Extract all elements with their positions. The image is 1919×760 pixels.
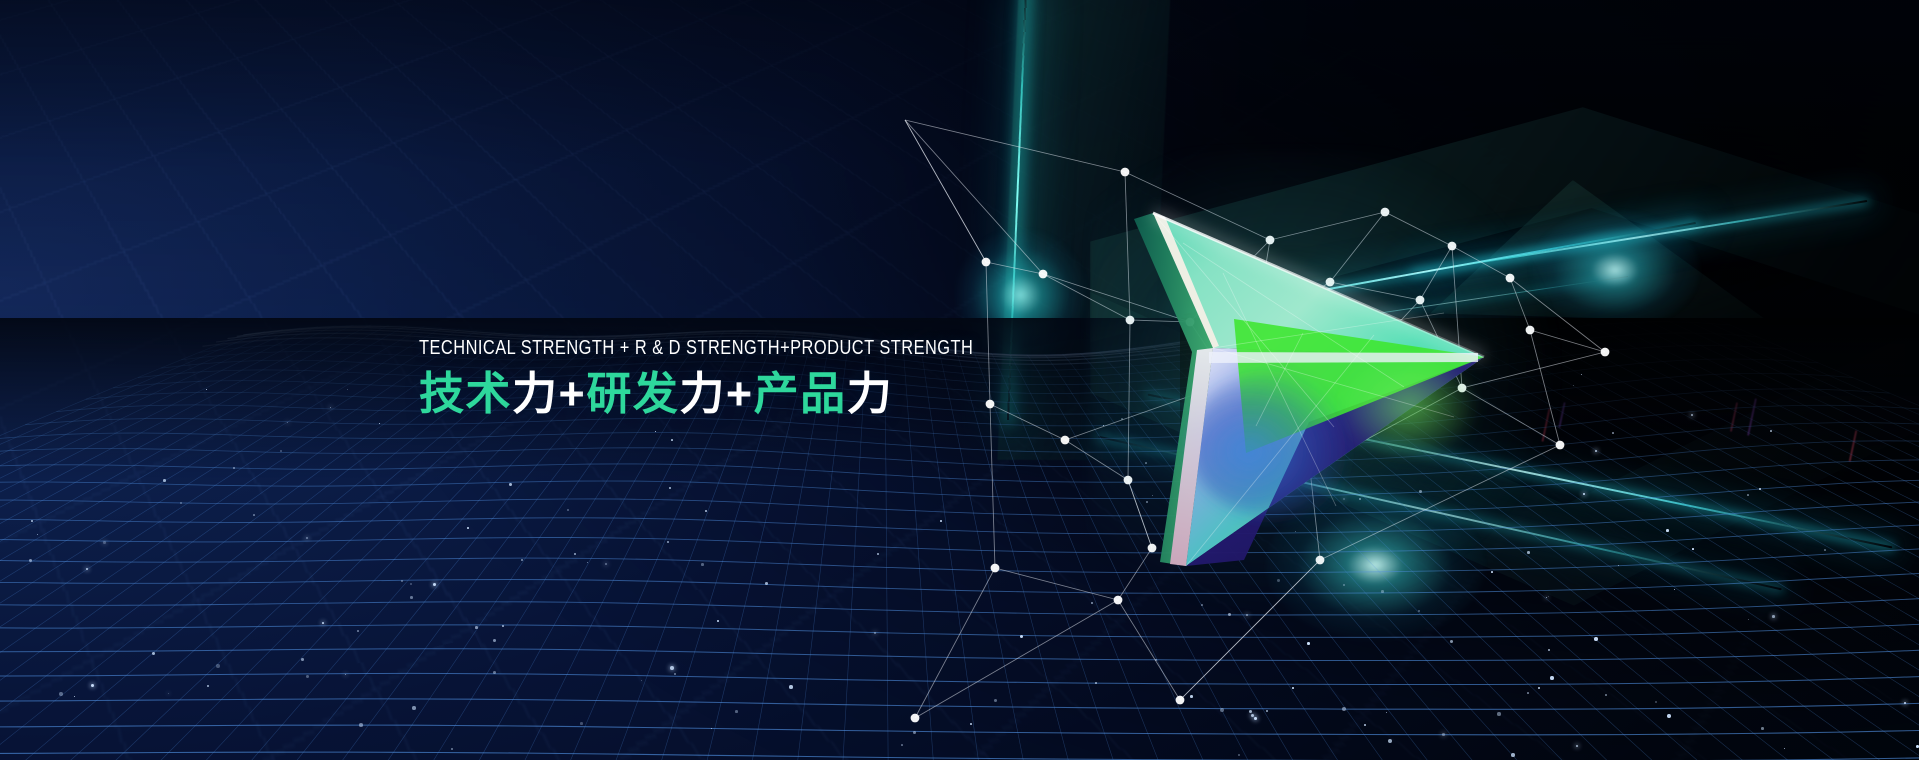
headline-text: 技术力+研发力+产品力 [419,370,1159,418]
arrow-mid-band [1209,352,1478,363]
headline-segment-0: 技术 [419,368,512,419]
hero-banner: TECHNICAL STRENGTH + R & D STRENGTH+PROD… [0,0,1919,760]
headline-segment-4: 力 [679,368,726,419]
headline-segment-1: 力 [512,368,559,419]
headline-segment-3: 研发 [586,368,679,419]
headline-segment-6: 产品 [754,368,847,419]
headline-segment-2: + [559,368,587,419]
headline-segment-5: + [726,368,754,419]
eyebrow-text: TECHNICAL STRENGTH + R & D STRENGTH+PROD… [419,338,1011,359]
arrow-inner-blue-bloom [1189,370,1361,518]
headline-segment-7: 力 [847,368,894,419]
copy-block: TECHNICAL STRENGTH + R & D STRENGTH+PROD… [419,338,1159,417]
arrow-body [1134,213,1484,566]
arrow-inner-green-bloom [1339,352,1479,460]
